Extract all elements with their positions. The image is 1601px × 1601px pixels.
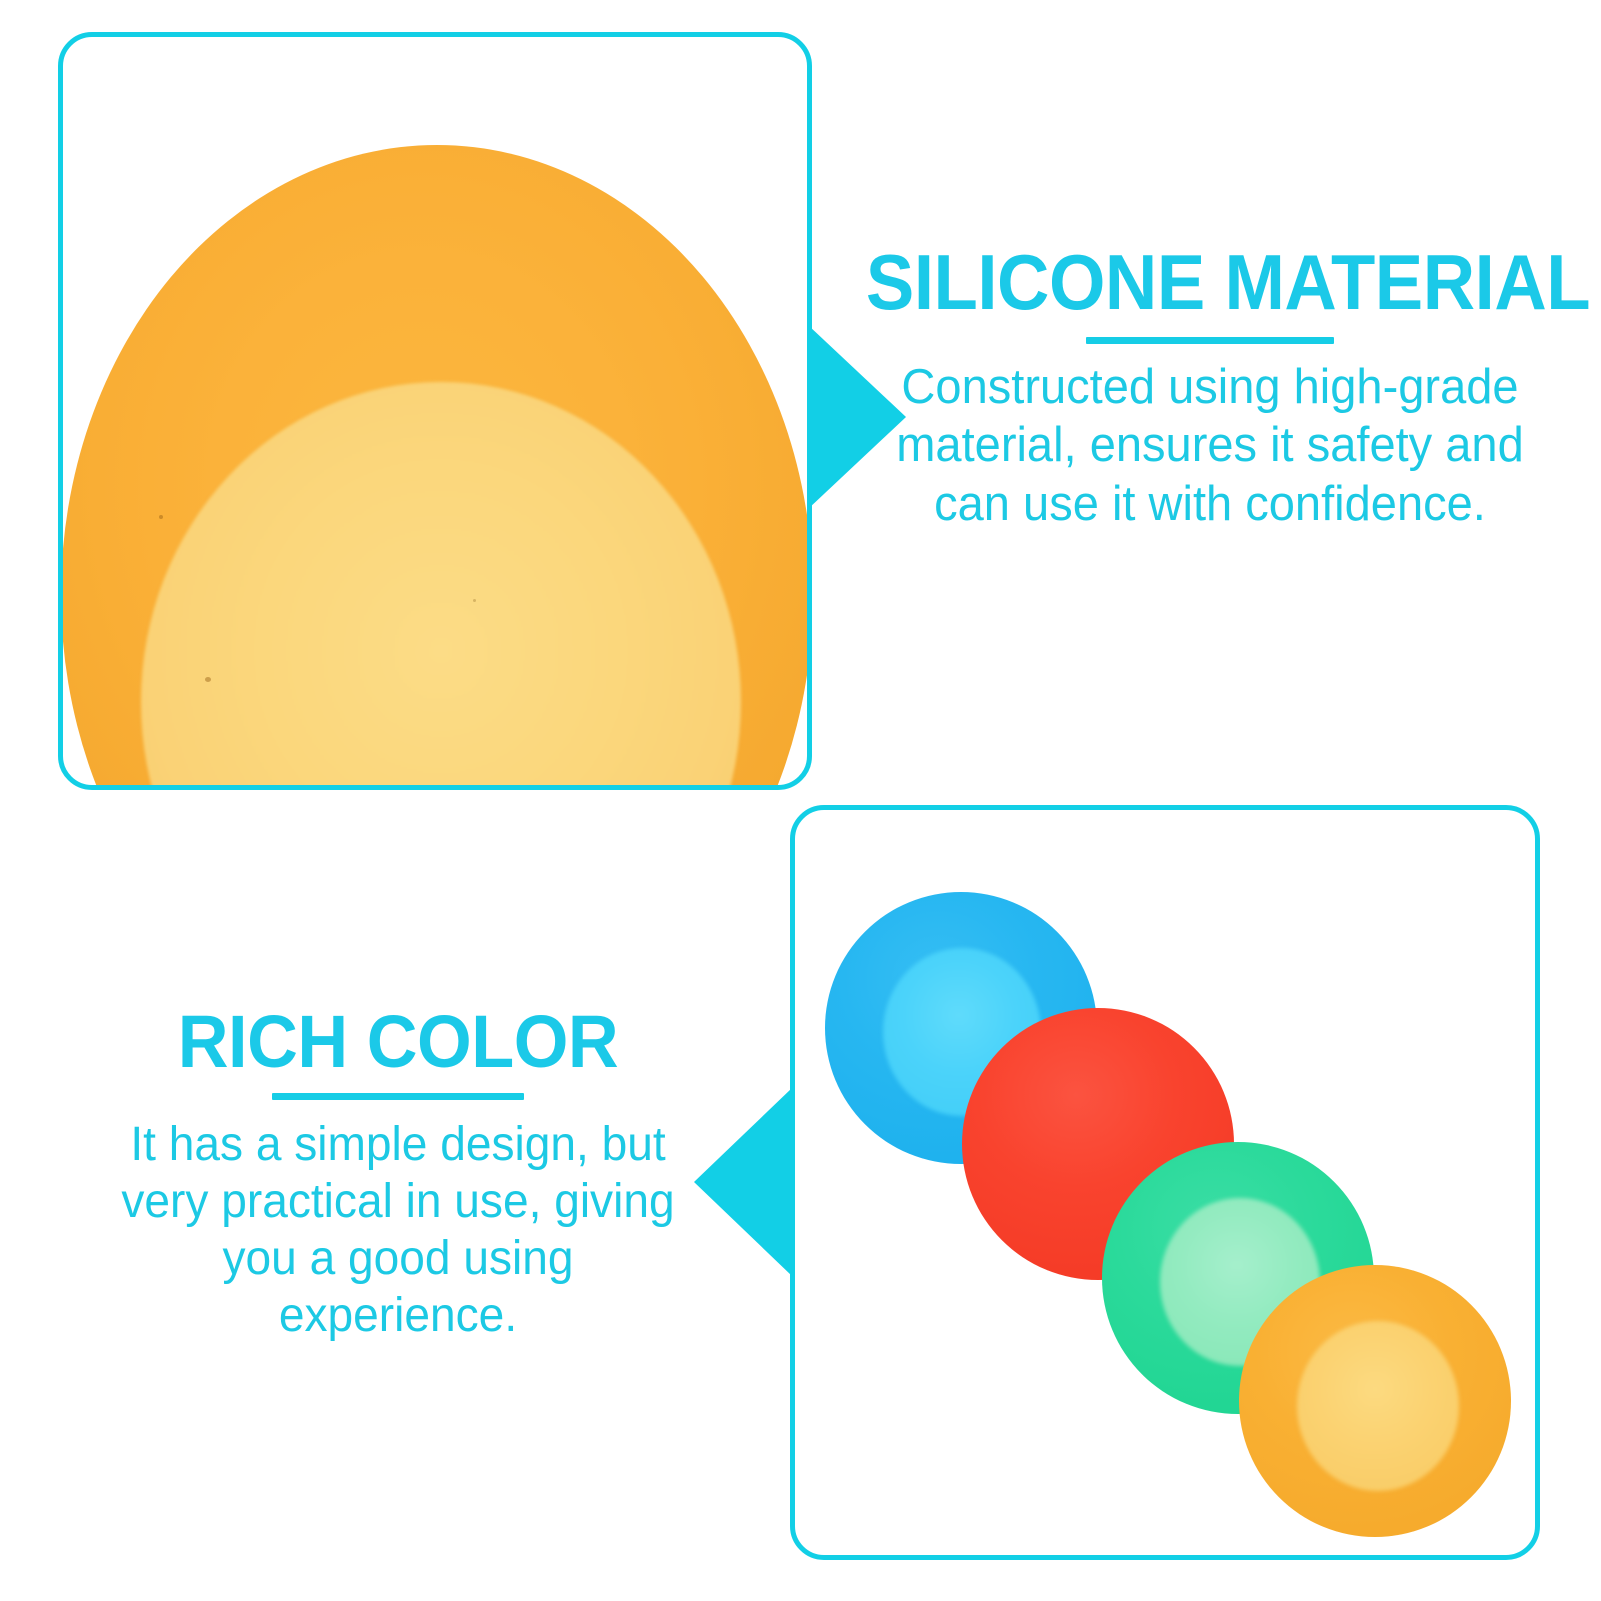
lid-well-orange	[1297, 1321, 1459, 1491]
photo-frame-inner	[795, 810, 1535, 1555]
photo-panel-rich-color	[790, 805, 1540, 1560]
surface-speck	[205, 677, 211, 682]
photo-panel-silicone-material	[58, 32, 812, 790]
surface-speck	[473, 599, 476, 602]
infographic-canvas: SILICONE MATERIAL Constructed using high…	[0, 0, 1601, 1601]
heading-underline	[1086, 337, 1334, 344]
heading-underline	[272, 1093, 524, 1100]
silicone-lid-orange	[1239, 1265, 1511, 1537]
feature-text-silicone-material: SILICONE MATERIAL Constructed using high…	[840, 243, 1580, 533]
photo-frame-inner	[63, 37, 807, 785]
feature-text-rich-color: RICH COLOR It has a simple design, but v…	[108, 1005, 688, 1344]
surface-speck	[159, 515, 163, 519]
feature-heading: RICH COLOR	[123, 1005, 674, 1079]
feature-description: Constructed using high-grade material, e…	[855, 358, 1565, 533]
feature-description: It has a simple design, but very practic…	[120, 1116, 677, 1344]
feature-heading: SILICONE MATERIAL	[866, 243, 1554, 321]
pointer-triangle-left	[694, 1088, 792, 1276]
